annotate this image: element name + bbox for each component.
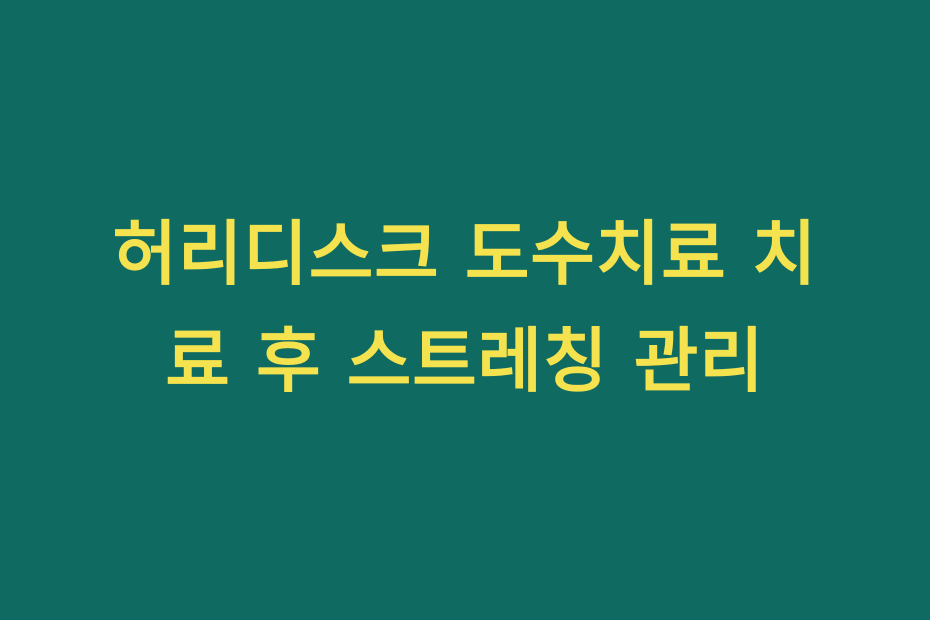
title-line-1: 허리디스크 도수치료 치	[70, 201, 860, 308]
title-card: 허리디스크 도수치료 치 료 후 스트레칭 관리	[0, 0, 930, 620]
title-line-2: 료 후 스트레칭 관리	[70, 308, 860, 415]
title-text-block: 허리디스크 도수치료 치 료 후 스트레칭 관리	[70, 201, 860, 419]
